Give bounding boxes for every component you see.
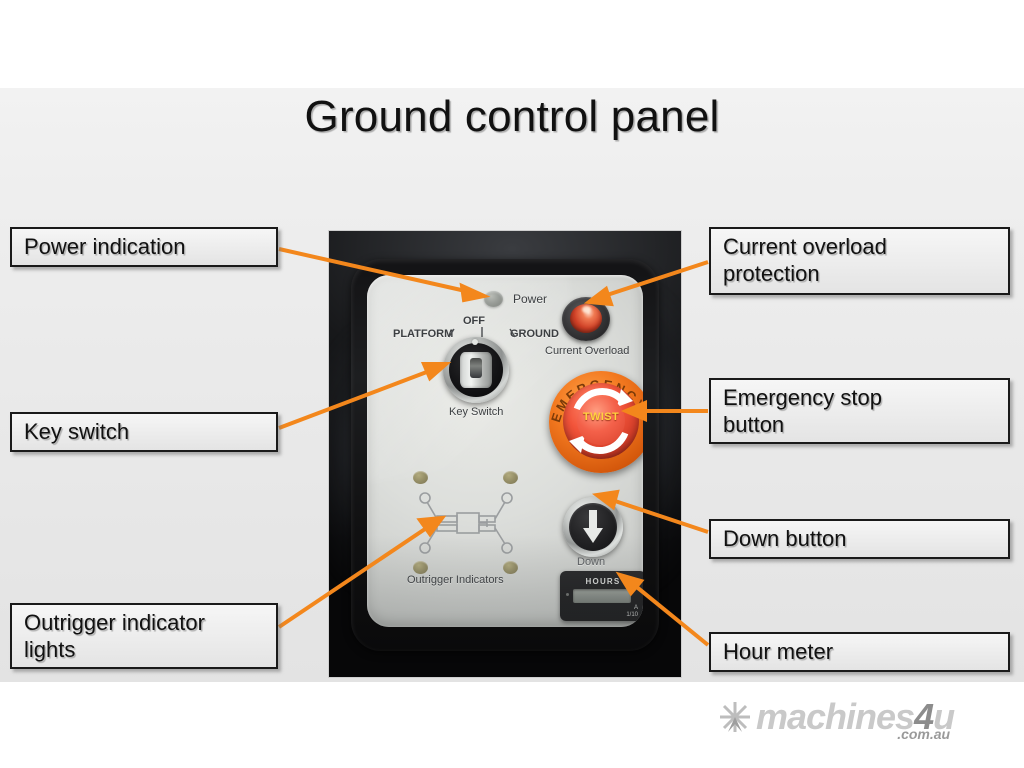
- faceplate-label-power: Power: [513, 292, 547, 306]
- key-switch[interactable]: [443, 337, 509, 403]
- power-indicator-led: [484, 291, 503, 307]
- callout-emergency-stop-button[interactable]: Emergency stop button: [709, 378, 1010, 444]
- starburst-icon: [718, 700, 752, 734]
- faceplate-bottom-shade: [367, 535, 643, 627]
- callout-emergency-stop-line-1: Emergency stop: [723, 384, 998, 411]
- callout-outrigger-indicator-lights[interactable]: Outrigger indicator lights: [10, 603, 278, 669]
- slide-canvas: Ground control panel Power Current Overl…: [0, 0, 1024, 768]
- watermark-domain: .com.au: [897, 726, 950, 742]
- slide-top-band: [0, 0, 1024, 88]
- callout-current-overload-protection[interactable]: Current overload protection: [709, 227, 1010, 295]
- watermark-brand: machines: [756, 696, 914, 737]
- callout-outrigger-line-2: lights: [24, 636, 266, 663]
- emergency-stop-button[interactable]: EMERGENCY STOP TWIST: [549, 371, 643, 473]
- current-overload-glint: [582, 306, 591, 313]
- callout-down-button-line-1: Down button: [723, 525, 847, 552]
- watermark: machines4u .com.au: [718, 700, 954, 734]
- page-title: Ground control panel: [0, 92, 1024, 142]
- callout-down-button[interactable]: Down button: [709, 519, 1010, 559]
- control-panel-photo: Power Current Overload OFF PLATFORM GROU…: [329, 231, 681, 677]
- callout-power-indication[interactable]: Power indication: [10, 227, 278, 267]
- callout-power-indication-line-1: Power indication: [24, 233, 185, 260]
- callout-key-switch[interactable]: Key switch: [10, 412, 278, 452]
- callout-key-switch-line-1: Key switch: [24, 418, 129, 445]
- panel-faceplate: Power Current Overload OFF PLATFORM GROU…: [367, 275, 643, 627]
- current-overload-lamp[interactable]: [562, 297, 610, 341]
- faceplate-label-current-overload: Current Overload: [545, 345, 629, 357]
- estop-twist-label: TWIST: [577, 411, 625, 423]
- callout-hour-meter-line-1: Hour meter: [723, 638, 833, 665]
- callout-current-overload-line-2: protection: [723, 260, 998, 287]
- callout-hour-meter[interactable]: Hour meter: [709, 632, 1010, 672]
- faceplate-label-key-switch: Key Switch: [449, 406, 503, 418]
- key-switch-notch: [472, 339, 478, 345]
- callout-current-overload-line-1: Current overload: [723, 233, 998, 260]
- key-switch-barrel: [460, 352, 492, 388]
- callout-emergency-stop-line-2: button: [723, 411, 998, 438]
- callout-outrigger-line-1: Outrigger indicator: [24, 609, 266, 636]
- key-head: [470, 358, 482, 378]
